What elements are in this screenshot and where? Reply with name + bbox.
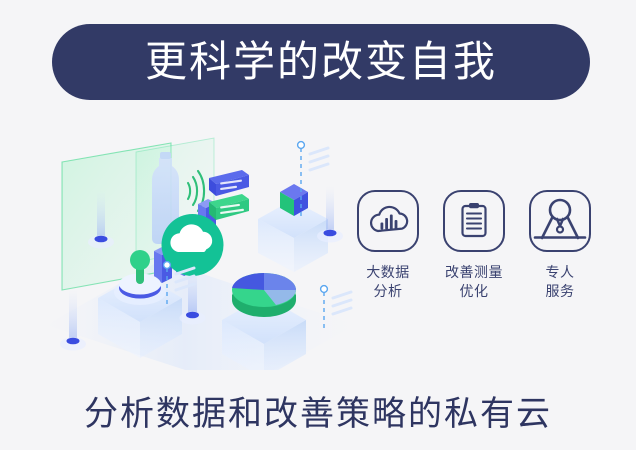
service-agent-icon [529,190,591,252]
feature-label-measurement: 改善测量 优化 [445,263,503,301]
green-badge-tag [209,194,249,220]
cloud-bar-chart-icon [357,190,419,252]
feature-list: 大数据 分析 改善测量 优化 [352,190,596,336]
clipboard-icon [443,190,505,252]
tagline: 分析数据和改善策略的私有云 [0,386,636,435]
title-banner: 更科学的改变自我 [52,24,590,100]
feature-label-service: 专人 服务 [546,263,575,301]
blue-badge-tag [209,170,249,196]
feature-item-big-data[interactable]: 大数据 分析 [352,190,424,301]
feature-label-big-data: 大数据 分析 [366,263,410,301]
page-title: 更科学的改变自我 [145,41,497,83]
illustration-scene [36,120,356,370]
poster-canvas: 更科学的改变自我 [0,0,636,450]
feature-item-measurement[interactable]: 改善测量 优化 [438,190,510,301]
feature-item-service[interactable]: 专人 服务 [524,190,596,301]
pie-chart-3d [232,273,296,317]
